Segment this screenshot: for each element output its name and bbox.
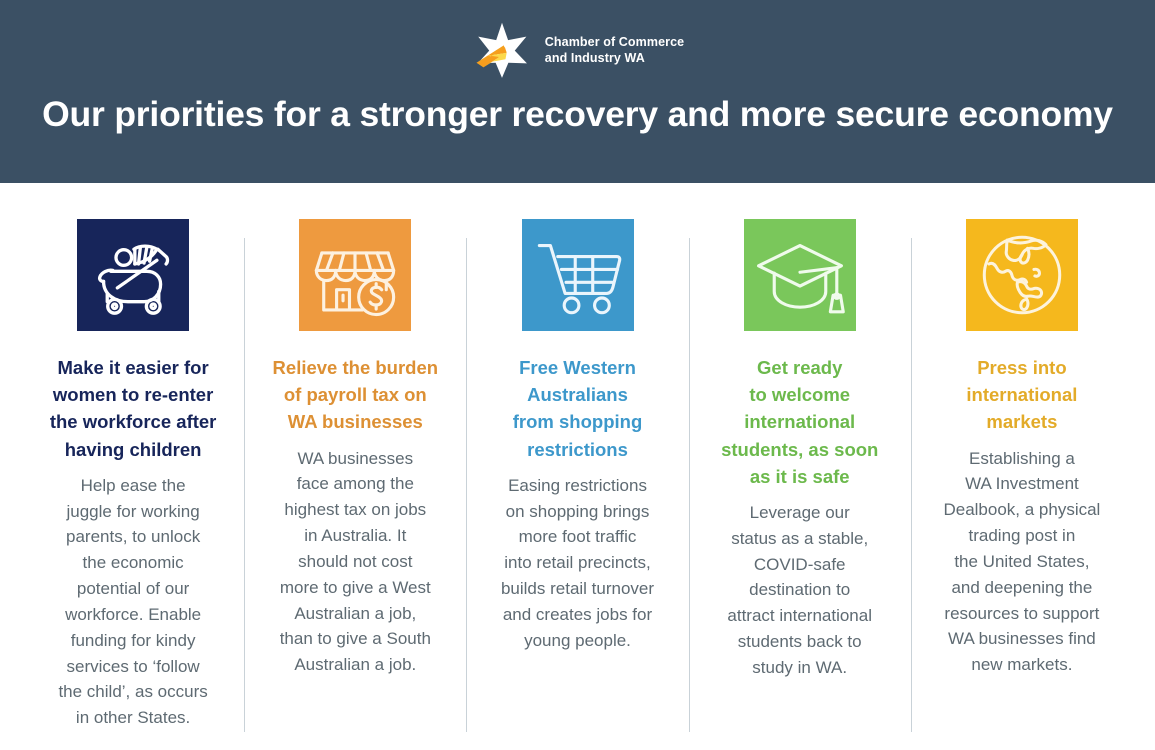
storefront-dollar-icon [309,229,401,321]
priorities-row: Make it easier for women to re-enter the… [0,183,1155,750]
baby-stroller-icon-tile [77,219,189,331]
priority-column-shopping: Free Western Australians from shopping r… [466,219,688,750]
globe-icon [976,229,1068,321]
page-title: Our priorities for a stronger recovery a… [0,94,1155,135]
globe-icon-tile [966,219,1078,331]
graduation-cap-icon [754,229,846,321]
priority-heading: Free Western Australians from shopping r… [513,354,642,463]
priority-body: Help ease the juggle for working parents… [58,473,207,731]
priority-body: Establishing a WA Investment Dealbook, a… [943,446,1100,678]
page-header: Chamber of Commerce and Industry WA Our … [0,0,1155,183]
brand-logo: Chamber of Commerce and Industry WA [0,0,1155,78]
priority-column-international-students: Get ready to welcome international stude… [689,219,911,750]
priority-heading: Press into international markets [966,354,1077,436]
priority-column-payroll-tax: Relieve the burden of payroll tax on WA … [244,219,466,750]
priority-heading: Make it easier for women to re-enter the… [50,354,217,463]
priority-body: Easing restrictions on shopping brings m… [501,473,654,654]
shopping-cart-icon-tile [522,219,634,331]
priority-column-international-markets: Press into international markets Establi… [911,219,1133,750]
priority-heading: Relieve the burden of payroll tax on WA … [273,354,439,436]
chamber-star-logo-icon [471,21,533,79]
storefront-dollar-icon-tile [299,219,411,331]
graduation-cap-icon-tile [744,219,856,331]
brand-wordmark: Chamber of Commerce and Industry WA [545,34,684,66]
priority-body: WA businesses face among the highest tax… [280,446,431,678]
shopping-cart-icon [532,229,624,321]
priority-heading: Get ready to welcome international stude… [721,354,878,490]
priority-column-workforce: Make it easier for women to re-enter the… [22,219,244,750]
priority-body: Leverage our status as a stable, COVID-s… [727,500,872,681]
baby-stroller-icon [87,229,179,321]
